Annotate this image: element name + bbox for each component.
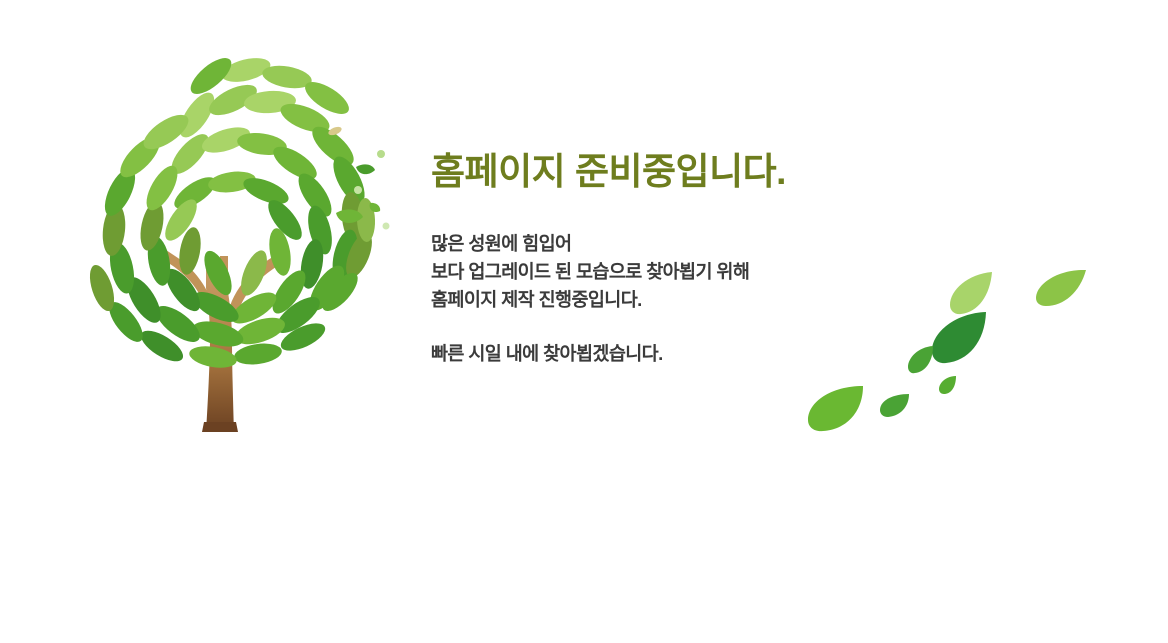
floating-leaf	[950, 272, 992, 314]
green-tree-illustration	[40, 30, 400, 450]
tree-canopy	[85, 52, 389, 371]
notice-line: 보다 업그레이드 된 모습으로 찾아뵙기 위해	[431, 258, 951, 286]
floating-leaf	[880, 394, 909, 417]
notice-line: 홈페이지 제작 진행중입니다.	[431, 286, 951, 314]
floating-leaf	[1036, 270, 1086, 306]
preparing-page: 홈페이지 준비중입니다. 많은 성원에 힘입어 보다 업그레이드 된 모습으로 …	[0, 0, 1168, 643]
floating-leaf	[808, 386, 863, 431]
floating-leaf	[939, 376, 956, 394]
leaf-speck	[377, 150, 385, 158]
paragraph-spacer	[431, 314, 951, 340]
detached-leaf	[356, 164, 375, 174]
notice-body: 많은 성원에 힘입어 보다 업그레이드 된 모습으로 찾아뵙기 위해 홈페이지 …	[431, 197, 951, 368]
notice-line: 빠른 시일 내에 찾아뵙겠습니다.	[431, 340, 951, 368]
leaf-speck	[354, 186, 362, 194]
page-title: 홈페이지 준비중입니다.	[431, 148, 951, 197]
leaf-speck	[383, 223, 390, 230]
notice-text-block: 홈페이지 준비중입니다. 많은 성원에 힘입어 보다 업그레이드 된 모습으로 …	[431, 148, 951, 368]
notice-line: 많은 성원에 힘입어	[431, 230, 951, 258]
